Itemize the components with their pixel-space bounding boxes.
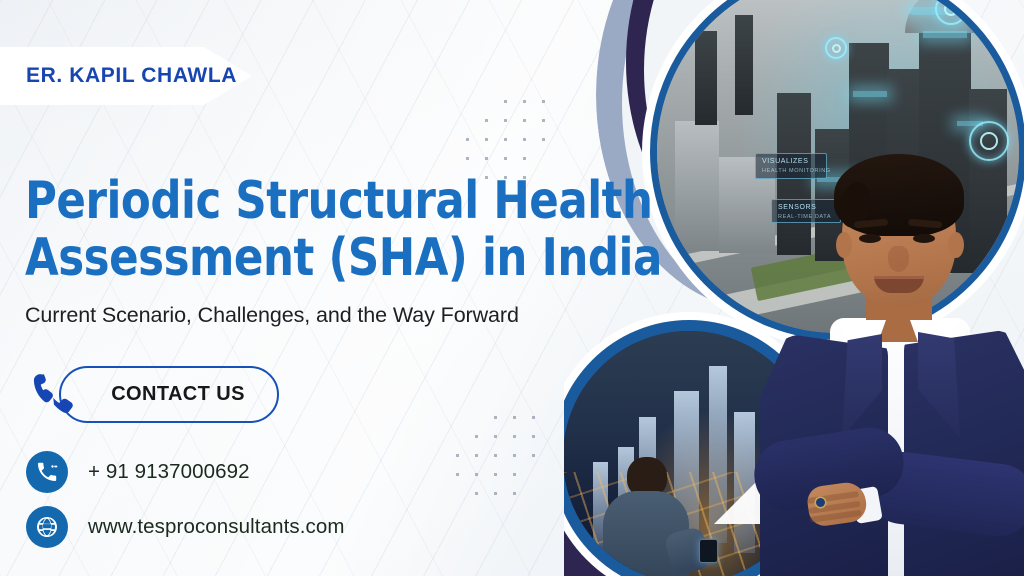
engineer-figure <box>603 457 689 576</box>
subtitle: Current Scenario, Challenges, and the Wa… <box>25 303 519 328</box>
contact-row-phone[interactable]: + 91 9137000692 <box>26 451 250 493</box>
presenter-name-ribbon: ER. KAPIL CHAWLA <box>0 47 252 105</box>
portrait-nose <box>888 246 909 272</box>
headline-line-2: Assessment (SHA) in India <box>25 230 583 287</box>
phone-number: + 91 9137000692 <box>88 460 250 484</box>
contact-us-label: CONTACT US <box>111 383 245 406</box>
headline-line-1: Periodic Structural Health <box>25 173 583 230</box>
decorative-dot-grid-bottom <box>448 408 543 503</box>
headline-block: Periodic Structural Health Assessment (S… <box>25 173 625 287</box>
portrait-eye-left <box>859 234 881 243</box>
artwork-composition: VISUALIZES HEALTH MONITORING SENSORS REA… <box>564 0 1024 576</box>
contact-us-button[interactable]: CONTACT US <box>59 366 279 423</box>
globe-icon <box>26 506 68 548</box>
handheld-device <box>699 539 718 563</box>
presentation-banner: VISUALIZES HEALTH MONITORING SENSORS REA… <box>0 0 1024 576</box>
sensor-node-icon <box>969 121 1009 161</box>
contact-row-website[interactable]: www.tesproconsultants.com <box>26 506 345 548</box>
portrait-ring <box>816 498 825 507</box>
presenter-portrait <box>758 158 1024 576</box>
website-url: www.tesproconsultants.com <box>88 515 345 539</box>
portrait-ear-right <box>948 232 964 258</box>
phone-circle-icon <box>26 451 68 493</box>
presenter-name: ER. KAPIL CHAWLA <box>26 64 237 88</box>
portrait-eye-right <box>913 234 935 243</box>
portrait-ear-left <box>836 232 852 258</box>
phone-icon <box>28 368 82 424</box>
sensor-node-icon <box>825 37 847 59</box>
